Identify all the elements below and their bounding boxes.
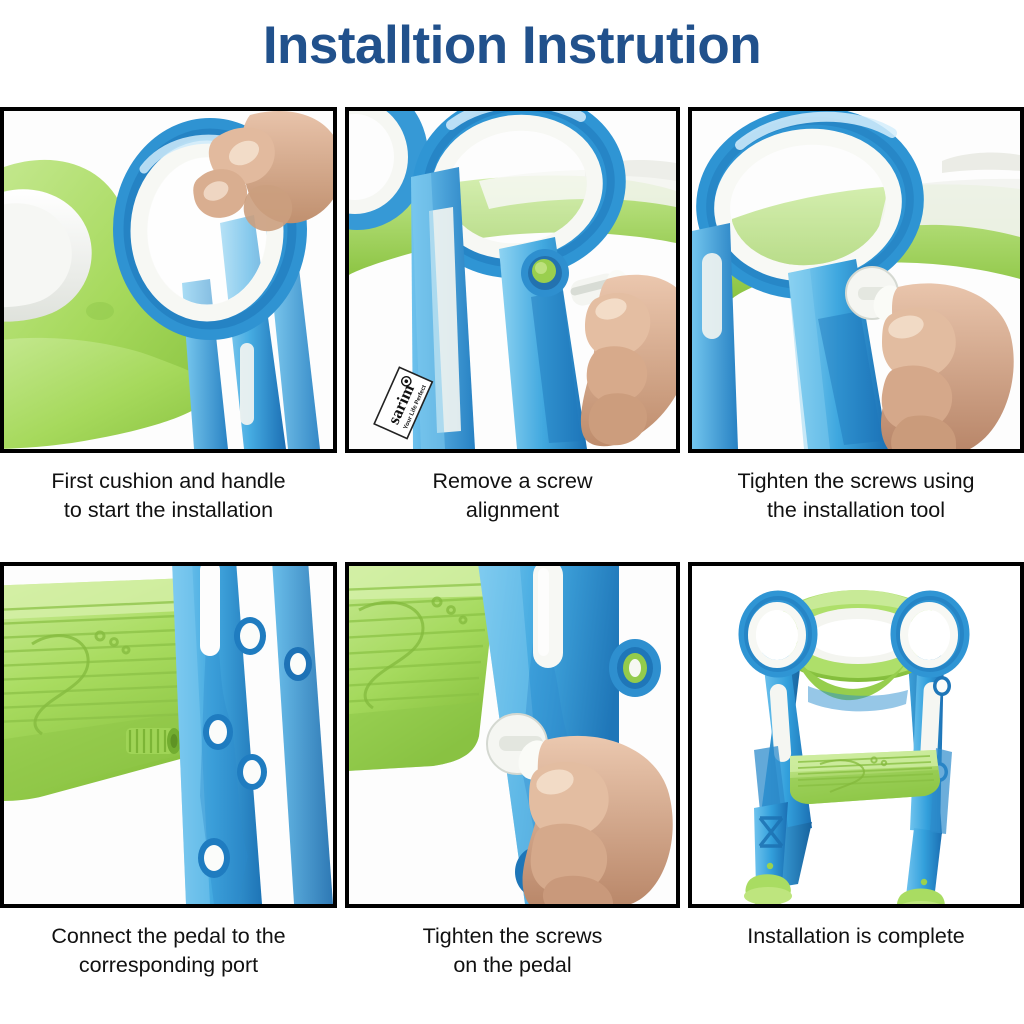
step-2-remove-screw-photo: sarim Your Life Perfect [345, 107, 680, 453]
steps-grid: First cushion and handle to start the in… [0, 107, 1024, 1019]
step-card-4: Connect the pedal to the corresponding p… [0, 562, 337, 979]
step-5-tighten-pedal-screws-photo [345, 562, 680, 908]
step-card-5: Tighten the screws on the pedal [345, 562, 680, 979]
step-3-tighten-screws-tool-photo [688, 107, 1024, 453]
step-card-2: sarim Your Life Perfect Remove a screw a… [345, 107, 680, 524]
step-1-cushion-and-handle-photo [0, 107, 337, 453]
step-5-caption: Tighten the screws on the pedal [345, 922, 680, 979]
step-4-caption: Connect the pedal to the corresponding p… [0, 922, 337, 979]
steps-row-bottom: Connect the pedal to the corresponding p… [0, 562, 1024, 1019]
page-title: Installtion Instrution [0, 18, 1024, 74]
step-card-1: First cushion and handle to start the in… [0, 107, 337, 524]
step-6-installation-complete-photo [688, 562, 1024, 908]
step-3-caption: Tighten the screws using the installatio… [688, 467, 1024, 524]
installation-instruction-page: Installtion Instrution [0, 0, 1024, 1024]
step-card-6: Installation is complete [688, 562, 1024, 951]
step-4-connect-pedal-photo [0, 562, 337, 908]
step-6-caption: Installation is complete [688, 922, 1024, 951]
step-card-3: Tighten the screws using the installatio… [688, 107, 1024, 524]
step-1-caption: First cushion and handle to start the in… [0, 467, 337, 524]
step-2-caption: Remove a screw alignment [345, 467, 680, 524]
steps-row-top: First cushion and handle to start the in… [0, 107, 1024, 562]
